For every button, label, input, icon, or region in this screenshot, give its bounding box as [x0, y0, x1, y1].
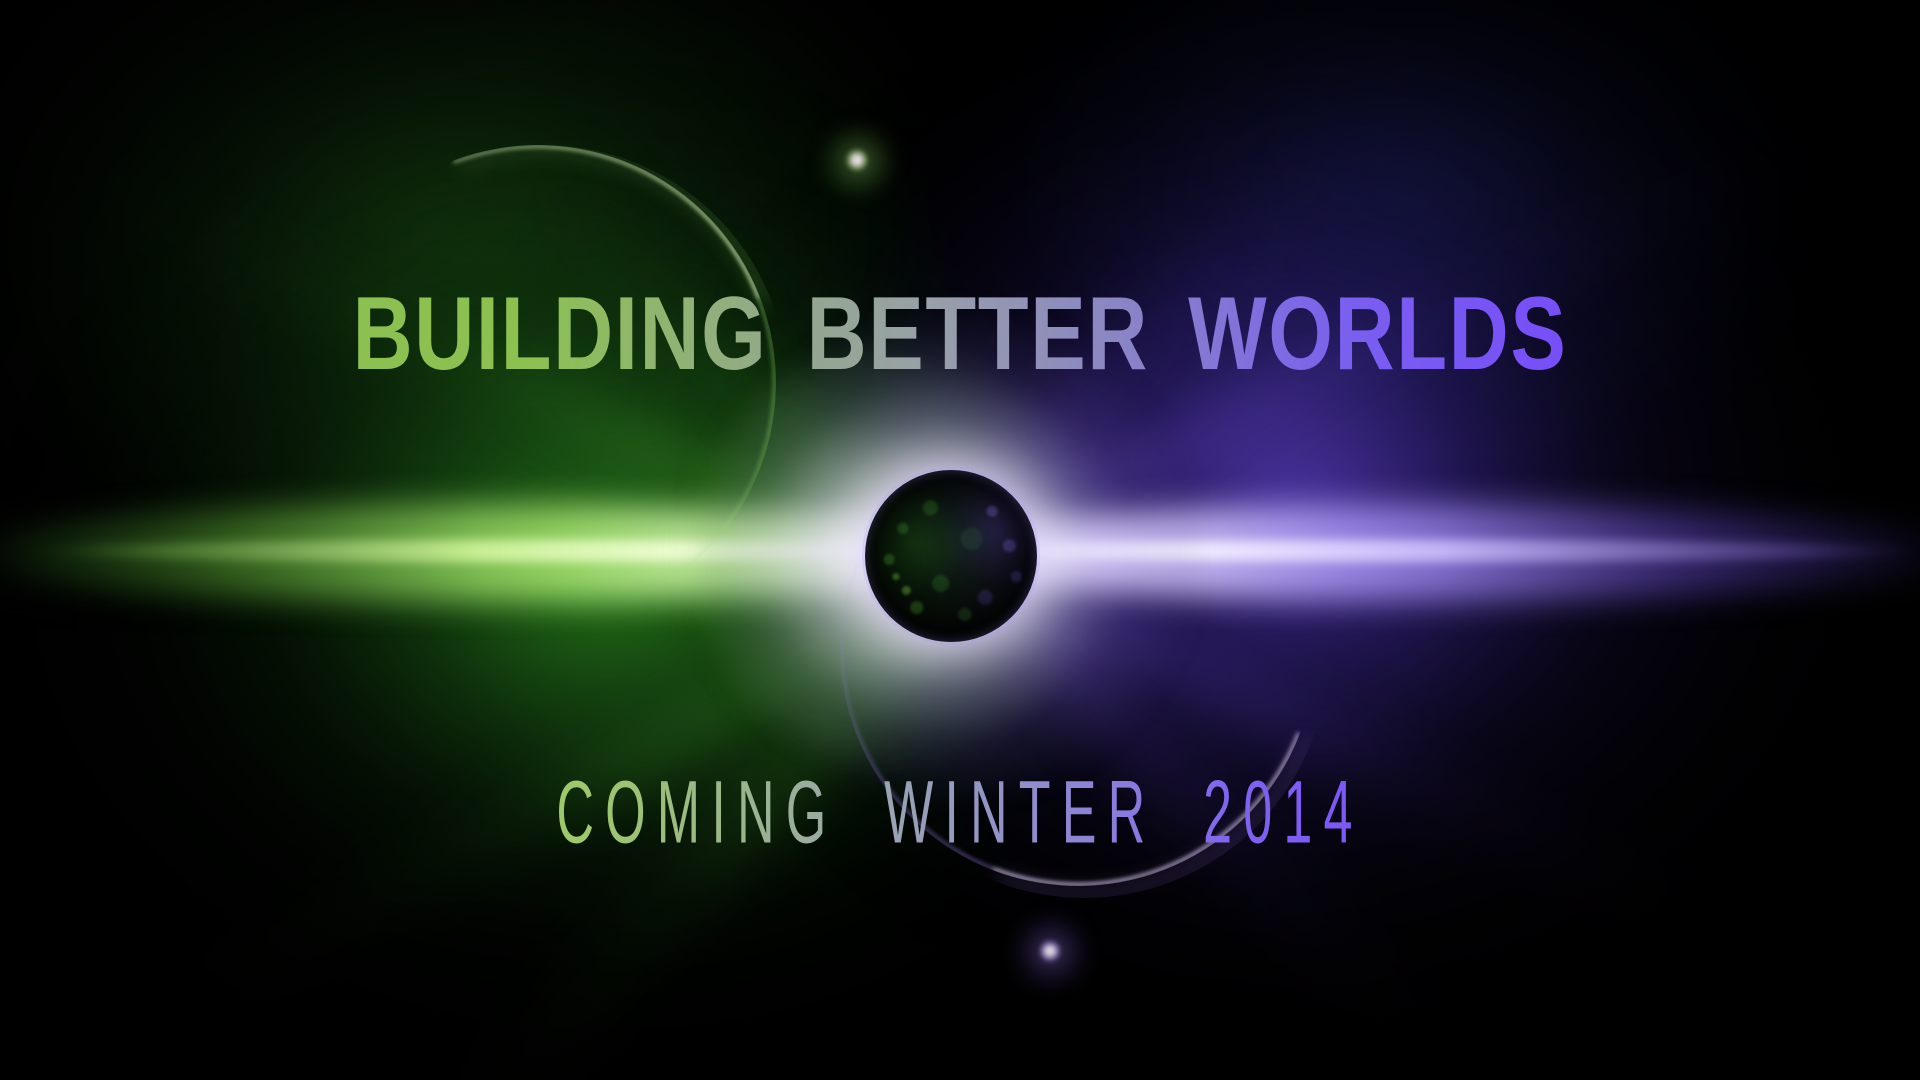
- light-shaft-right: [950, 542, 1920, 568]
- release-date-tagline: COMING WINTER 2014: [365, 767, 1555, 856]
- green-light-beam-core: [40, 540, 970, 562]
- purple-comet-head-glow: [1013, 914, 1089, 990]
- nebula-purple-glow: [720, 0, 1920, 1080]
- purple-comet-tail-glow: [762, 332, 1406, 976]
- vignette-overlay: [0, 0, 1920, 1080]
- light-shaft-lower-right: [950, 541, 1756, 957]
- green-comet-head-glow: [820, 123, 896, 199]
- purple-light-beam-core: [940, 540, 1920, 562]
- planet-sphere: [865, 470, 1037, 642]
- planet: [865, 470, 1037, 642]
- purple-comet-tail: [764, 334, 1392, 962]
- purple-light-beam: [900, 505, 1920, 601]
- planet-rim-light: [862, 467, 1040, 645]
- poster-canvas: BUILDING BETTER WORLDS COMING WINTER 201…: [0, 0, 1920, 1080]
- nebula-green-glow: [0, 0, 1240, 1080]
- nebula-blue-glow: [900, 0, 1920, 540]
- planet-terrain-texture: [865, 470, 1037, 642]
- green-comet-head: [846, 149, 868, 171]
- purple-comet-head: [1039, 940, 1061, 962]
- planet-shading: [865, 470, 1037, 642]
- page-title: BUILDING BETTER WORLDS: [192, 282, 1728, 386]
- light-shaft-left: [0, 568, 950, 594]
- green-light-beam: [0, 505, 1000, 601]
- planet-corona-green: [690, 345, 1110, 765]
